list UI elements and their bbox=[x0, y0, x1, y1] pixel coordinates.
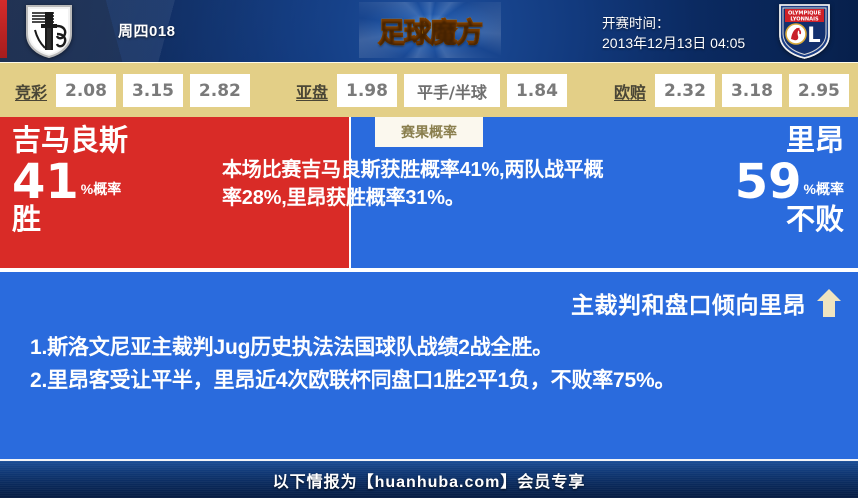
odds-group-label: 亚盘 bbox=[296, 79, 328, 103]
odds-cell[interactable]: 2.08 bbox=[56, 74, 116, 107]
home-percent-row: 41 %概率 bbox=[12, 160, 128, 204]
away-percent-row: 59 %概率 bbox=[735, 160, 844, 204]
odds-group-yapan: 亚盘 1.98 平手/半球 1.84 bbox=[296, 63, 574, 118]
odds-handicap-cell[interactable]: 平手/半球 bbox=[404, 74, 500, 107]
odds-group-oupei: 欧赔 2.32 3.18 2.95 bbox=[614, 63, 856, 118]
svg-text:L: L bbox=[807, 23, 820, 47]
tab-result-probability[interactable]: 赛果概率 bbox=[375, 117, 483, 147]
match-number: 周四018 bbox=[118, 20, 176, 41]
home-probability-block: 吉马良斯 41 %概率 胜 bbox=[12, 127, 128, 236]
odds-cell[interactable]: 2.32 bbox=[655, 74, 715, 107]
insight-line: 1.斯洛文尼亚主裁判Jug历史执法法国球队战绩2战全胜。 bbox=[30, 332, 824, 363]
odds-group-label: 竞彩 bbox=[15, 79, 47, 103]
brand-logo: 足球魔方 bbox=[359, 2, 501, 58]
odds-group-jingcai: 竞彩 2.08 3.15 2.82 bbox=[15, 63, 257, 118]
odds-bar: 竞彩 2.08 3.15 2.82 亚盘 1.98 平手/半球 1.84 欧赔 … bbox=[0, 62, 858, 117]
home-team-name: 吉马良斯 bbox=[12, 127, 128, 156]
insight-headline-row: 主裁判和盘口倾向里昂 bbox=[571, 286, 842, 320]
svg-text:LYONNAIS: LYONNAIS bbox=[790, 16, 819, 22]
insight-line: 2.里昂客受让平半，里昂近4次欧联杯同盘口1胜2平1负，不败率75%。 bbox=[30, 365, 824, 396]
brand-logo-text: 足球魔方 bbox=[378, 11, 482, 50]
odds-cell[interactable]: 1.98 bbox=[337, 74, 397, 107]
header-red-accent bbox=[0, 0, 7, 58]
probability-summary-text: 本场比赛吉马良斯获胜概率41%,两队战平概率28%,里昂获胜概率31%。 bbox=[222, 157, 622, 212]
probability-section: 吉马良斯 41 %概率 胜 里昂 59 %概率 不败 赛果概率 本场比赛吉马良斯… bbox=[0, 117, 858, 268]
odds-cell[interactable]: 1.84 bbox=[507, 74, 567, 107]
away-team-name: 里昂 bbox=[735, 127, 844, 156]
match-preview-card: 周四018 足球魔方 开赛时间： 2013年12月13日 04:05 OLYMP… bbox=[0, 0, 858, 498]
odds-cell[interactable]: 2.95 bbox=[789, 74, 849, 107]
home-percent-suffix: %概率 bbox=[81, 182, 121, 204]
home-team-crest-icon bbox=[23, 4, 75, 58]
kickoff-time: 2013年12月13日 04:05 bbox=[602, 33, 745, 53]
arrow-up-icon bbox=[816, 288, 842, 318]
away-probability-block: 里昂 59 %概率 不败 bbox=[735, 127, 844, 236]
insight-panel: 主裁判和盘口倾向里昂 1.斯洛文尼亚主裁判Jug历史执法法国球队战绩2战全胜。 … bbox=[0, 272, 858, 459]
insight-headline: 主裁判和盘口倾向里昂 bbox=[571, 286, 806, 320]
odds-cell[interactable]: 3.18 bbox=[722, 74, 782, 107]
away-percent-value: 59 bbox=[735, 160, 802, 204]
away-team-crest-icon: OLYMPIQUE LYONNAIS L bbox=[777, 3, 832, 59]
odds-group-label: 欧赔 bbox=[614, 79, 646, 103]
insight-lines: 1.斯洛文尼亚主裁判Jug历史执法法国球队战绩2战全胜。 2.里昂客受让平半，里… bbox=[30, 332, 824, 398]
footer-text: 以下情报为【huanhuba.com】会员专享 bbox=[273, 468, 586, 492]
odds-cell[interactable]: 2.82 bbox=[190, 74, 250, 107]
odds-cell[interactable]: 3.15 bbox=[123, 74, 183, 107]
kickoff-label: 开赛时间： bbox=[602, 12, 670, 32]
home-percent-value: 41 bbox=[12, 160, 79, 204]
away-percent-suffix: %概率 bbox=[804, 182, 844, 204]
footer-bar: 以下情报为【huanhuba.com】会员专享 bbox=[0, 459, 858, 498]
header-bar: 周四018 足球魔方 开赛时间： 2013年12月13日 04:05 OLYMP… bbox=[0, 0, 858, 62]
